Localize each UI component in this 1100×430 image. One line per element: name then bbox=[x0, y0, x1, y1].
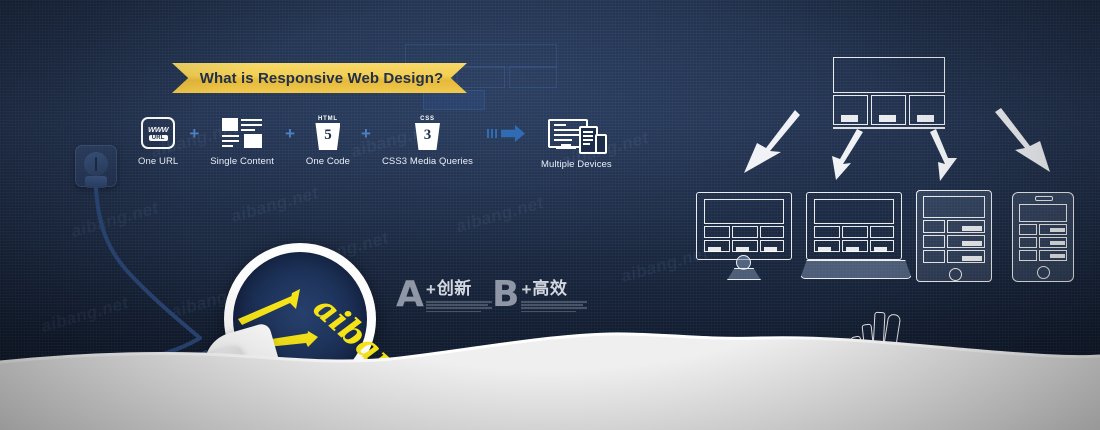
css3-badge-number: 3 bbox=[424, 128, 432, 143]
feature-block-a: A + 创新 bbox=[396, 278, 492, 314]
feature-plus: + bbox=[521, 281, 531, 298]
url-globe-icon: WWW URL bbox=[141, 117, 175, 149]
plus-separator: + bbox=[285, 124, 295, 144]
css3-icon-label: CSS bbox=[420, 116, 435, 122]
right-motion-arrow-icon bbox=[487, 120, 527, 146]
banner-stage: aibang.net aibang.net aibang.net aibang.… bbox=[0, 0, 1100, 430]
phone-icon bbox=[1012, 192, 1074, 282]
plus-separator: + bbox=[189, 124, 199, 144]
plus-separator: + bbox=[361, 124, 371, 144]
arrow-down-icon bbox=[832, 129, 863, 180]
arrow-down-right-icon bbox=[995, 108, 1050, 172]
arrow-down-left-icon bbox=[744, 110, 800, 173]
feature-letter: A bbox=[396, 278, 424, 311]
formula-result-label: Multiple Devices bbox=[541, 159, 612, 170]
formula-item-one-code: HTML 5 One Code bbox=[306, 116, 350, 167]
formula-item-single-content: Single Content bbox=[210, 116, 274, 167]
feature-title: 创新 bbox=[437, 280, 472, 297]
formula-label: Single Content bbox=[210, 156, 274, 167]
feature-block-b: B + 高效 bbox=[492, 278, 587, 314]
formula-result-multiple-devices: Multiple Devices bbox=[541, 117, 612, 170]
feature-title: 高效 bbox=[532, 280, 567, 297]
power-plug-icon bbox=[85, 176, 107, 188]
tablet-icon bbox=[916, 190, 992, 282]
socket-slot bbox=[95, 157, 98, 171]
url-icon-bottom-text: URL bbox=[149, 135, 168, 141]
formula-label: One URL bbox=[138, 156, 178, 167]
formula-label: CSS3 Media Queries bbox=[382, 156, 473, 167]
responsive-layout-wireframe bbox=[833, 57, 945, 131]
feature-letter: B bbox=[492, 278, 519, 311]
multiple-devices-icon bbox=[548, 119, 604, 151]
desktop-icon bbox=[696, 192, 792, 282]
arrow-down-icon bbox=[930, 129, 957, 181]
content-blocks-icon bbox=[222, 118, 262, 148]
headline-text: What is Responsive Web Design? bbox=[172, 63, 467, 93]
formula-item-one-url: WWW URL One URL bbox=[138, 116, 178, 167]
html5-badge-icon: 5 bbox=[315, 123, 340, 150]
socket-inner bbox=[84, 152, 108, 176]
watermark: aibang.net bbox=[454, 193, 546, 237]
formula-label: One Code bbox=[306, 156, 350, 167]
css3-badge-icon: 3 bbox=[415, 123, 440, 150]
formula-item-css3-media-queries: CSS 3 CSS3 Media Queries bbox=[382, 116, 473, 167]
ground-surface bbox=[0, 310, 1100, 430]
watermark: aibang.net bbox=[69, 198, 161, 242]
html5-badge-number: 5 bbox=[324, 128, 332, 143]
html5-icon-label: HTML bbox=[318, 116, 338, 122]
url-icon-top-text: WWW bbox=[148, 125, 168, 134]
headline-ribbon: What is Responsive Web Design? bbox=[172, 63, 467, 93]
feature-plus: + bbox=[426, 281, 436, 298]
responsive-formula-row: WWW URL One URL + Single C bbox=[138, 116, 612, 170]
laptop-icon bbox=[800, 192, 910, 280]
watermark: aibang.net bbox=[229, 183, 321, 227]
